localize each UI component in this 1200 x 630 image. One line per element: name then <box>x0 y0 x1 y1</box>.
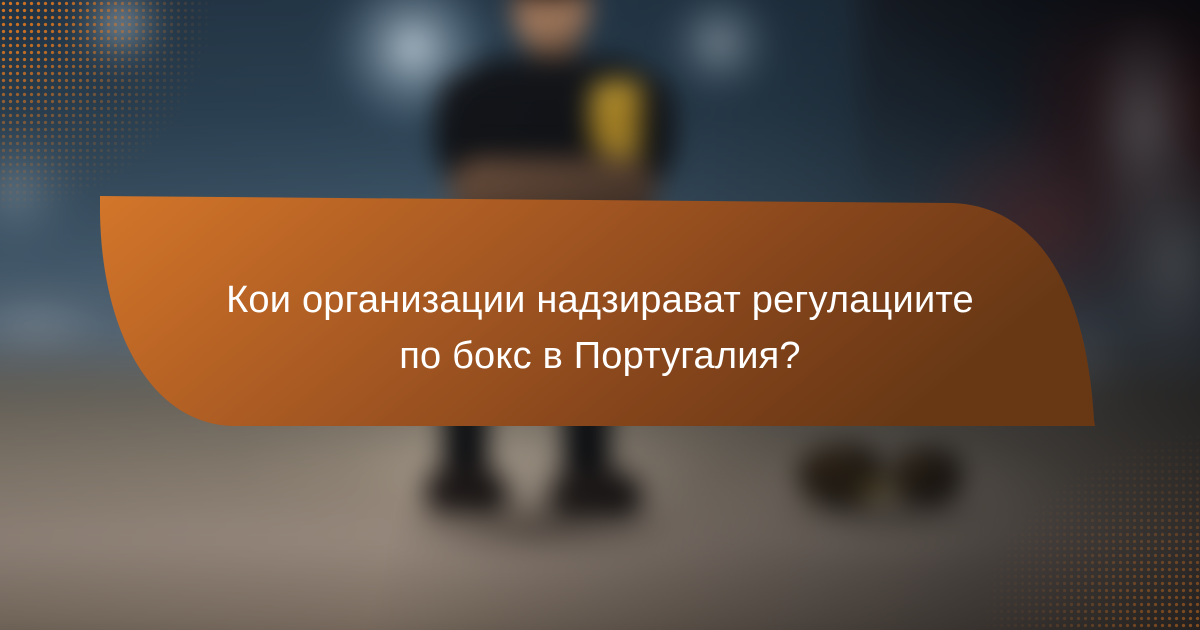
background-photo <box>0 0 1200 630</box>
share-card-canvas: Кои организации надзирават регулациите п… <box>0 0 1200 630</box>
photo-dim-overlay <box>0 0 1200 630</box>
